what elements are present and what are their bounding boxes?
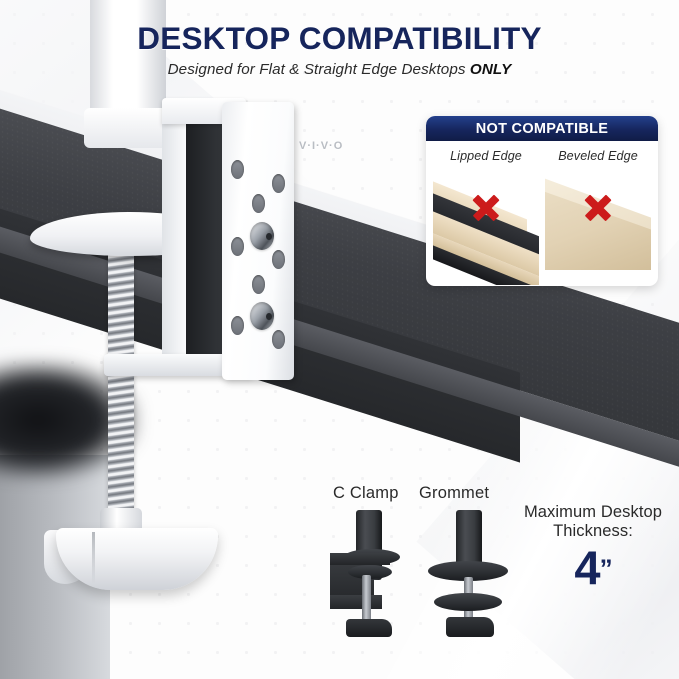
grommet-lower-disc <box>434 593 502 611</box>
bracket-pivot-boss <box>250 222 274 250</box>
c-clamp-lower-jaw <box>330 595 382 609</box>
grommet-mount-image <box>420 505 520 645</box>
max-thickness-unit: ” <box>600 554 612 584</box>
max-thickness-value-block: 4” <box>507 540 679 595</box>
bracket-hole <box>231 160 244 179</box>
header-block: DESKTOP COMPATIBILITY Designed for Flat … <box>0 22 679 78</box>
subtitle-lead: Designed for Flat & Straight Edge Deskto… <box>168 61 470 78</box>
clamp-threaded-screw <box>108 248 134 518</box>
clamp-knob-seam <box>92 532 95 584</box>
bracket-left-arm <box>162 98 186 370</box>
not-compatible-item-lipped: Lipped Edge <box>433 149 539 286</box>
max-thickness-number: 4 <box>574 541 599 594</box>
bracket-hole <box>252 275 265 294</box>
product-infographic: DESKTOP COMPATIBILITY Designed for Flat … <box>0 0 679 679</box>
bracket-pivot-boss <box>250 302 274 330</box>
bracket-face-plate: V·I·V·O <box>222 102 294 380</box>
grommet-label: Grommet <box>419 484 489 503</box>
not-compatible-body: Lipped Edge Beveled Edge <box>426 141 658 286</box>
c-clamp-knob <box>346 619 392 637</box>
bracket-hole <box>272 250 285 269</box>
c-clamp-bracket: V·I·V·O <box>160 96 320 396</box>
c-clamp-label: C Clamp <box>333 484 399 503</box>
bracket-hole <box>231 316 244 335</box>
bracket-hole <box>231 237 244 256</box>
bracket-hole <box>272 330 285 349</box>
not-compatible-card: NOT COMPATIBLE Lipped Edge Beveled Edge <box>426 116 658 286</box>
c-clamp-upper-jaw <box>330 553 390 565</box>
bracket-hole <box>252 194 265 213</box>
vivo-logo: V·I·V·O <box>299 140 355 152</box>
not-compatible-heading: NOT COMPATIBLE <box>426 116 658 141</box>
grommet-knob <box>446 617 494 637</box>
x-mark-icon <box>471 193 501 223</box>
lipped-edge-label: Lipped Edge <box>433 149 539 163</box>
lipped-edge-illustration <box>433 175 539 285</box>
bracket-hole <box>272 174 285 193</box>
beveled-edge-illustration <box>545 175 651 285</box>
c-clamp-mount-image <box>320 505 420 645</box>
beveled-edge-label: Beveled Edge <box>545 149 651 163</box>
subtitle-emphasis: ONLY <box>470 61 511 78</box>
x-mark-icon <box>583 193 613 223</box>
max-thickness-line1: Maximum Desktop <box>507 503 679 522</box>
not-compatible-item-beveled: Beveled Edge <box>545 149 651 286</box>
max-thickness-caption: Maximum Desktop Thickness: <box>507 503 679 542</box>
bracket-inner-gap <box>186 110 224 356</box>
page-subtitle: Designed for Flat & Straight Edge Deskto… <box>0 61 679 78</box>
page-title: DESKTOP COMPATIBILITY <box>0 22 679 55</box>
